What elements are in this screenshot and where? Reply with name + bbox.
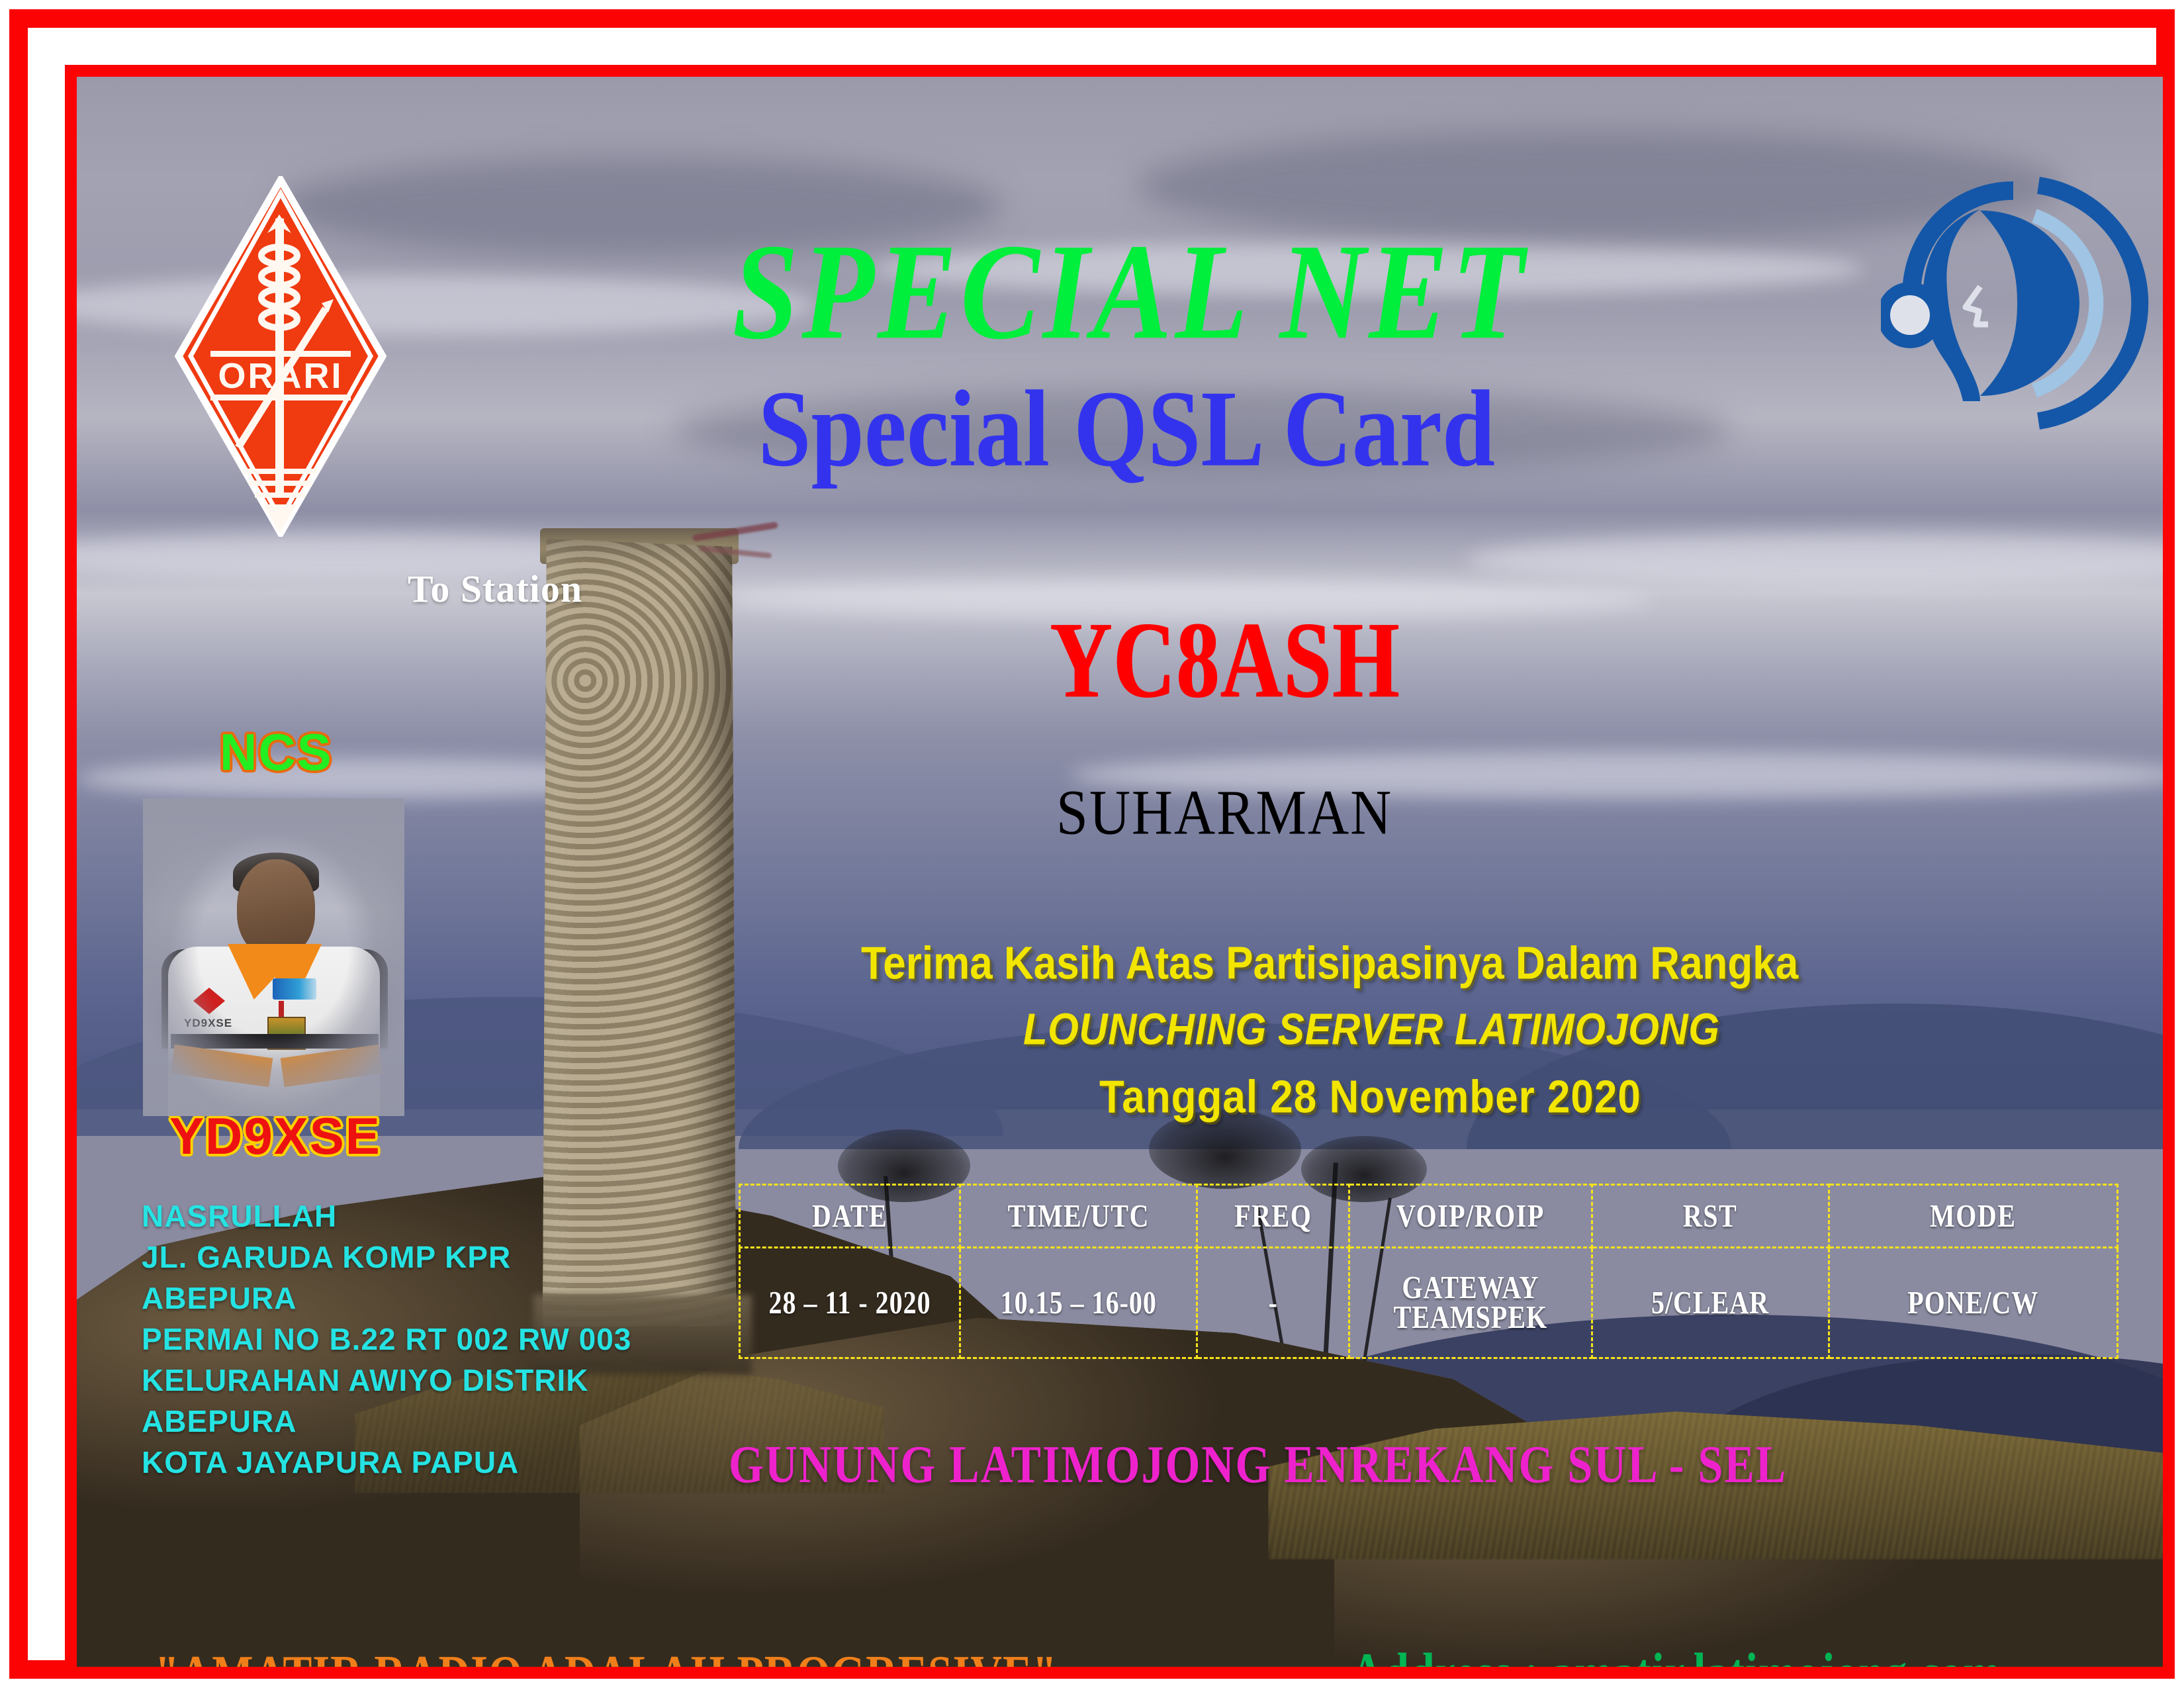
page-subtitle: Special QSL Card: [65, 375, 2175, 484]
address-line: NASRULLAH: [142, 1196, 631, 1237]
address-line: ABEPURA: [142, 1278, 631, 1319]
to-station-label: To Station: [408, 567, 582, 611]
column-header-freq: FREQ: [1197, 1185, 1349, 1248]
column-header-rst: RST: [1592, 1185, 1829, 1248]
column-header-mode: MODE: [1829, 1185, 2117, 1248]
inner-red-border: ORARI: [65, 65, 2175, 1679]
address-line: JL. GARUDA KOMP KPR: [142, 1237, 631, 1278]
cell-voip: GATEWAY TEAMSPEK: [1349, 1248, 1592, 1358]
outer-red-border: ORARI: [9, 9, 2175, 1679]
operator-name: SUHARMAN: [1056, 775, 1392, 849]
table-header-row: DATE TIME/UTC FREQ VOIP/ROIP RST MODE: [740, 1185, 2118, 1248]
address-line: ABEPURA: [142, 1401, 631, 1442]
photo-vignette: [143, 798, 404, 1116]
address-line: KOTA JAYAPURA PAPUA: [142, 1442, 631, 1483]
cell-date: 28 – 11 - 2020: [740, 1248, 960, 1358]
cell-time: 10.15 – 16-00: [960, 1248, 1197, 1358]
qsl-card: ORARI: [0, 0, 2184, 1688]
event-location-line: GUNUNG LATIMOJONG ENREKANG SUL - SEL: [729, 1434, 1787, 1495]
cell-mode: PONE/CW: [1829, 1248, 2117, 1358]
cell-freq: -: [1197, 1248, 1349, 1358]
page-title: SPECIAL NET: [65, 224, 2175, 361]
column-header-date: DATE: [740, 1185, 960, 1248]
station-address-block: NASRULLAH JL. GARUDA KOMP KPR ABEPURA PE…: [142, 1196, 631, 1483]
thanks-line-3: Tanggal 28 November 2020: [1099, 1071, 1641, 1124]
cell-rst: 5/CLEAR: [1592, 1248, 1829, 1358]
address-line: KELURAHAN AWIYO DISTRIK: [142, 1360, 631, 1401]
website-address: Address : amatir.latimojong.com: [1351, 1640, 2001, 1679]
ncs-label: NCS: [220, 722, 333, 782]
address-line: PERMAI NO B.22 RT 002 RW 003: [142, 1319, 631, 1360]
qso-log-table: DATE TIME/UTC FREQ VOIP/ROIP RST MODE 28…: [739, 1184, 2118, 1359]
table-row: 28 – 11 - 2020 10.15 – 16-00 - GATEWAY T…: [740, 1248, 2118, 1358]
thanks-line-2: LOUNCHING SERVER LATIMOJONG: [1023, 1004, 1719, 1055]
station-callsign: YC8ASH: [1050, 596, 1400, 723]
thanks-line-1: Terima Kasih Atas Partisipasinya Dalam R…: [861, 937, 1798, 990]
ncs-operator-photo: YD9XSE: [143, 798, 404, 1116]
club-slogan: "AMATIR RADIO ADALAH PROGRESIVE": [155, 1644, 1058, 1679]
column-header-voip: VOIP/ROIP: [1349, 1185, 1592, 1248]
column-header-time: TIME/UTC: [960, 1185, 1197, 1248]
